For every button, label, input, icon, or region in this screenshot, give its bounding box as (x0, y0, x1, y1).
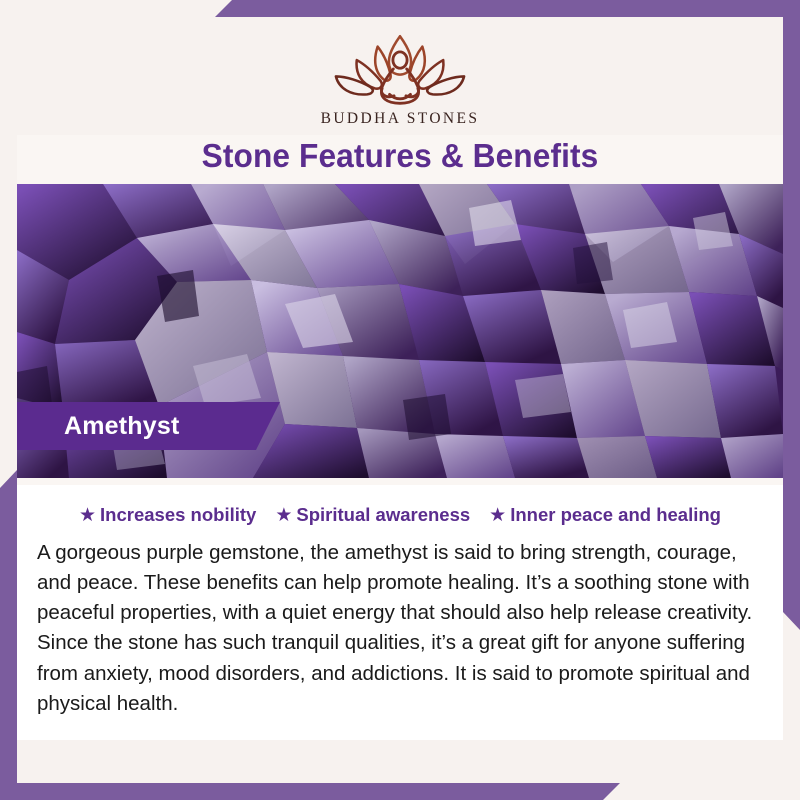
frame-band-top (215, 0, 800, 17)
amethyst-crystal-cluster-photo: Amethyst (17, 184, 783, 478)
stone-name-banner: Amethyst (17, 402, 280, 450)
feature-item: ★ Inner peace and healing (489, 504, 721, 526)
frame-band-right (783, 0, 800, 612)
feature-list: ★ Increases nobility ★ Spiritual awarene… (35, 495, 765, 536)
star-icon: ★ (489, 506, 506, 525)
stone-description: A gorgeous purple gemstone, the amethyst… (35, 536, 765, 719)
brand-name: BUDDHA STONES (321, 110, 480, 128)
content-inner: ★ Increases nobility ★ Spiritual awarene… (17, 485, 783, 740)
content-section: ★ Increases nobility ★ Spiritual awarene… (17, 478, 783, 740)
star-icon: ★ (275, 506, 292, 525)
frame-band-left-cap (0, 470, 17, 488)
lotus-meditation-figure-icon (318, 30, 482, 108)
feature-label: Inner peace and healing (510, 504, 721, 526)
card-body: BUDDHA STONES Stone Features & Benefits (17, 17, 783, 783)
page-title: Stone Features & Benefits (32, 137, 767, 175)
infographic-card: BUDDHA STONES Stone Features & Benefits (0, 0, 800, 800)
frame-band-bottom (0, 783, 620, 800)
feature-label: Increases nobility (100, 504, 256, 526)
frame-band-right-tip (783, 612, 800, 630)
title-bar: Stone Features & Benefits (17, 135, 783, 184)
feature-item: ★ Increases nobility (79, 504, 256, 526)
stone-name-label: Amethyst (64, 412, 180, 441)
feature-label: Spiritual awareness (296, 504, 470, 526)
star-icon: ★ (79, 506, 96, 525)
frame-band-left (0, 488, 17, 783)
feature-item: ★ Spiritual awareness (275, 504, 470, 526)
brand-header: BUDDHA STONES (17, 17, 783, 135)
